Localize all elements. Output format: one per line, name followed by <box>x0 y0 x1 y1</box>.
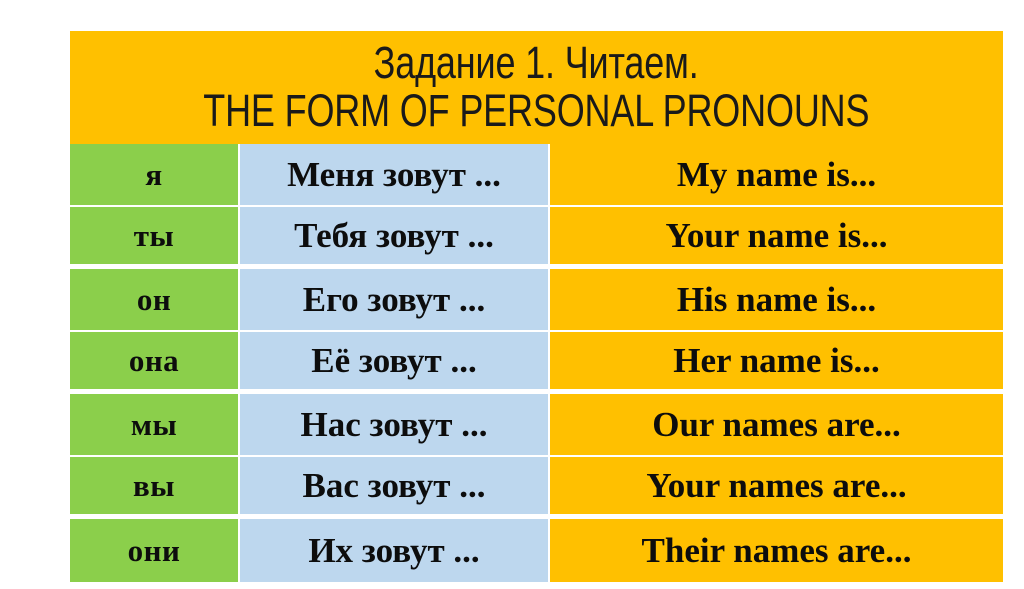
table-row: я Меня зовут ... My name is... <box>70 144 1003 207</box>
cell-russian-phrase: Его зовут ... <box>240 269 550 330</box>
cell-english-phrase: Her name is... <box>550 332 1003 389</box>
cell-english-phrase: His name is... <box>550 269 1003 330</box>
cell-russian-phrase: Её зовут ... <box>240 332 550 389</box>
cell-pronoun: я <box>70 144 240 205</box>
cell-pronoun: вы <box>70 457 240 514</box>
cell-english-phrase: Our names are... <box>550 394 1003 455</box>
title-line-russian: Задание 1. Читаем. <box>374 39 699 87</box>
cell-english-phrase: My name is... <box>550 144 1003 205</box>
cell-english-phrase: Your name is... <box>550 207 1003 264</box>
table-row: вы Вас зовут ... Your names are... <box>70 457 1003 519</box>
cell-russian-phrase: Меня зовут ... <box>240 144 550 205</box>
table-row: она Её зовут ... Her name is... <box>70 332 1003 394</box>
table-row: мы Нас зовут ... Our names are... <box>70 394 1003 457</box>
cell-russian-phrase: Нас зовут ... <box>240 394 550 455</box>
cell-pronoun: ты <box>70 207 240 264</box>
cell-pronoun: он <box>70 269 240 330</box>
cell-pronoun: она <box>70 332 240 389</box>
slide-canvas: Задание 1. Читаем. THE FORM OF PERSONAL … <box>0 0 1024 589</box>
personal-pronouns-table: Задание 1. Читаем. THE FORM OF PERSONAL … <box>70 31 1003 589</box>
cell-russian-phrase: Их зовут ... <box>240 519 550 582</box>
table-row: ты Тебя зовут ... Your name is... <box>70 207 1003 269</box>
table-row: они Их зовут ... Their names are... <box>70 519 1003 582</box>
cell-pronoun: они <box>70 519 240 582</box>
table-body: я Меня зовут ... My name is... ты Тебя з… <box>70 144 1003 589</box>
cell-russian-phrase: Тебя зовут ... <box>240 207 550 264</box>
title-banner: Задание 1. Читаем. THE FORM OF PERSONAL … <box>70 31 1003 144</box>
cell-english-phrase: Their names are... <box>550 519 1003 582</box>
cell-english-phrase: Your names are... <box>550 457 1003 514</box>
cell-pronoun: мы <box>70 394 240 455</box>
cell-russian-phrase: Вас зовут ... <box>240 457 550 514</box>
title-line-english: THE FORM OF PERSONAL PRONOUNS <box>203 87 869 135</box>
table-row: он Его зовут ... His name is... <box>70 269 1003 332</box>
